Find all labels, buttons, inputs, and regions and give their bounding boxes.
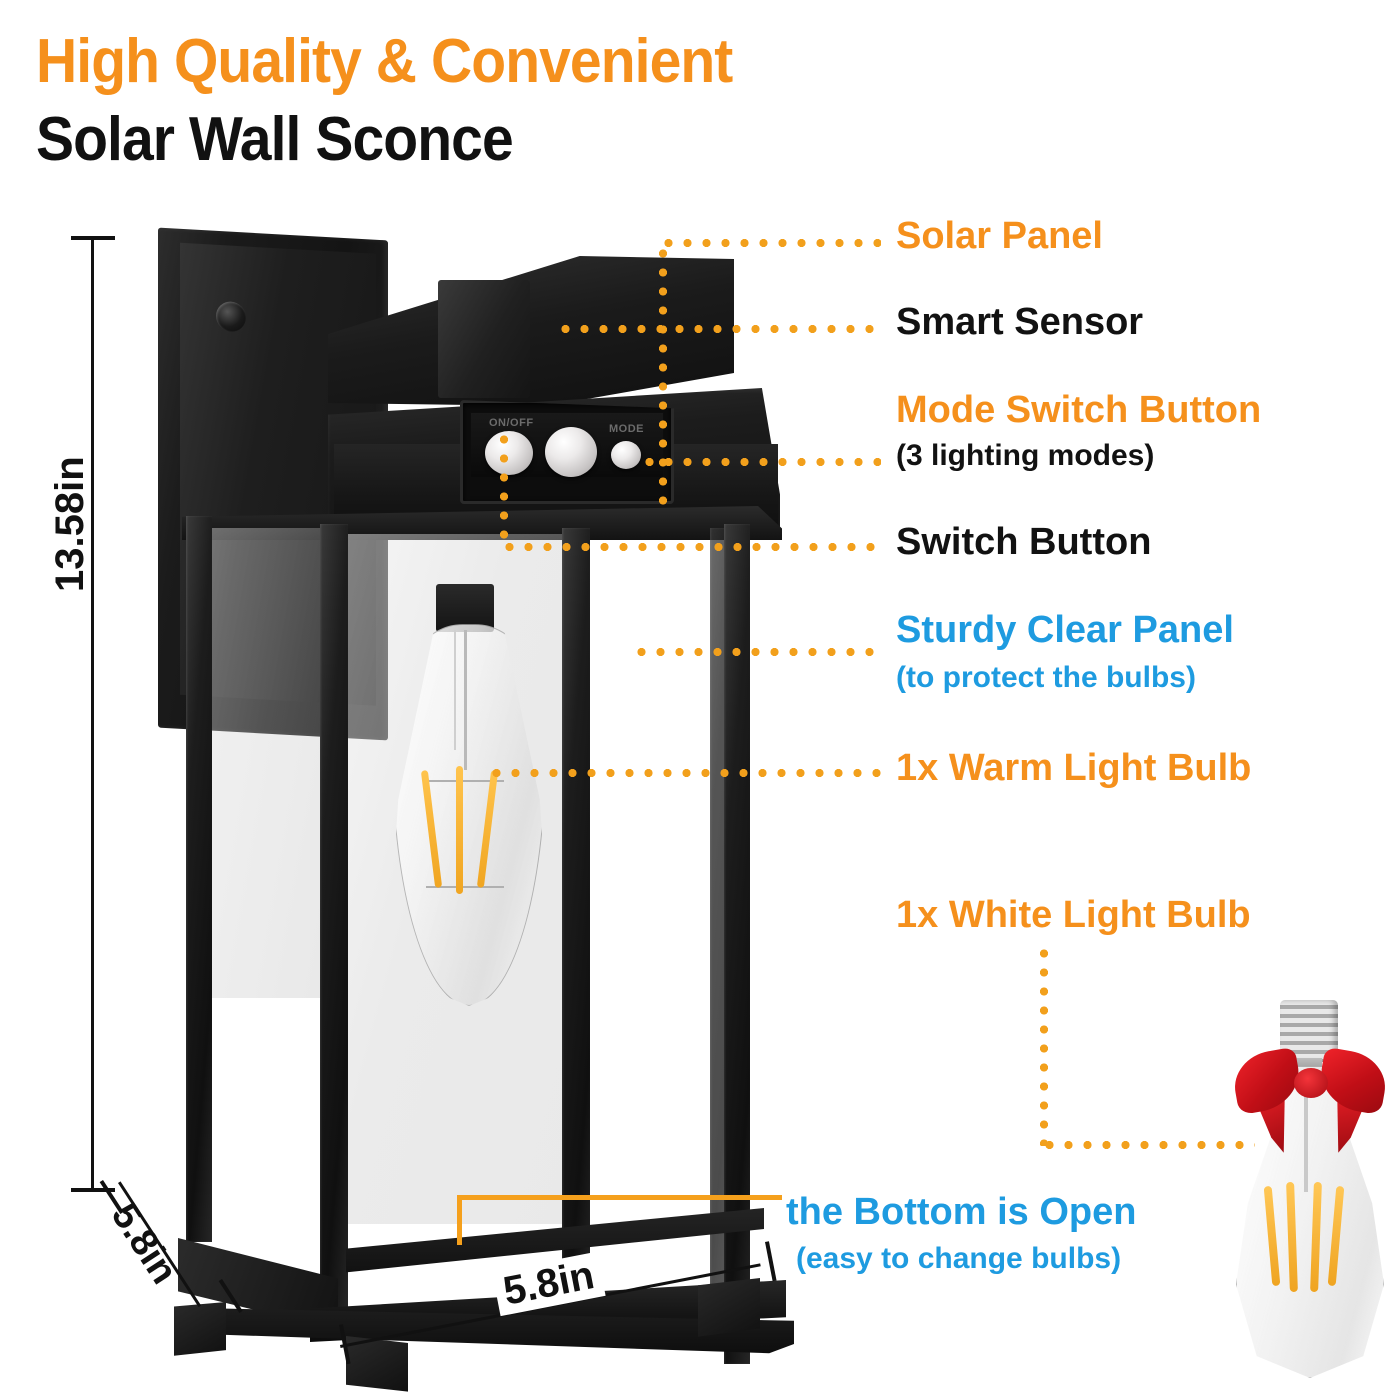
leader-switch-button-riser — [500, 430, 508, 548]
callout-clear-panel-sub: (to protect the bulbs) — [896, 662, 1196, 694]
headline-primary: High Quality & Convenient — [36, 26, 732, 97]
leader-white-bulb-riser — [1040, 944, 1048, 1146]
warm-light-bulb — [382, 584, 552, 1014]
callout-solar-panel: Solar Panel — [896, 216, 1103, 256]
frame-post-front-left — [320, 524, 348, 1324]
switch-button-knob[interactable] — [485, 431, 533, 475]
bulb-glass-envelope — [392, 624, 546, 1006]
white-light-bulb-gift — [1228, 1000, 1388, 1390]
dim-line-height — [91, 238, 94, 1190]
ribbon-knot — [1294, 1068, 1328, 1098]
base-corner-block-left — [174, 1302, 226, 1358]
callout-mode-switch-sub: (3 lighting modes) — [896, 440, 1154, 472]
callout-mode-switch: Mode Switch Button — [896, 390, 1261, 430]
callout-switch-button: Switch Button — [896, 522, 1151, 562]
bulb-filament-2 — [456, 766, 463, 894]
headline-secondary: Solar Wall Sconce — [36, 104, 513, 175]
leader-warm-bulb — [487, 769, 881, 777]
pointer-bottom-open-riser — [457, 1195, 462, 1245]
callout-warm-bulb: 1x Warm Light Bulb — [896, 748, 1251, 788]
clear-panel-side — [190, 528, 340, 998]
power-button-knob[interactable] — [545, 427, 597, 477]
base-corner-block-right — [698, 1278, 760, 1338]
frame-post-back-left — [186, 516, 212, 1242]
leader-smart-sensor — [556, 325, 881, 333]
callout-bottom-open-sub: (easy to change bulbs) — [796, 1243, 1121, 1275]
product-infographic: High Quality & Convenient Solar Wall Sco… — [0, 0, 1400, 1400]
leader-solar-panel-riser — [659, 244, 667, 514]
mode-button-knob[interactable] — [611, 441, 641, 469]
on-off-caption: ON/OFF — [489, 417, 534, 429]
red-ribbon-bow-icon — [1232, 1044, 1390, 1136]
dim-cap-height-top — [71, 236, 115, 240]
dim-label-height: 13.58in — [48, 456, 93, 592]
smart-sensor-housing — [438, 280, 530, 398]
pointer-bottom-open — [457, 1195, 782, 1200]
callout-smart-sensor: Smart Sensor — [896, 302, 1143, 342]
bulb-stem — [464, 630, 467, 770]
callout-white-bulb: 1x White Light Bulb — [896, 895, 1251, 935]
leader-solar-panel — [659, 239, 881, 247]
control-panel[interactable]: ON/OFF MODE — [460, 400, 674, 504]
frame-post-front-right — [562, 528, 590, 1340]
callout-clear-panel: Sturdy Clear Panel — [896, 610, 1234, 650]
leader-white-bulb — [1040, 1141, 1255, 1149]
mode-caption: MODE — [609, 423, 644, 435]
leader-clear-panel — [632, 648, 881, 656]
leader-mode-switch — [640, 458, 881, 466]
callout-bottom-open: the Bottom is Open — [786, 1192, 1136, 1232]
bulb-stem-wire — [454, 630, 456, 750]
leader-switch-button — [500, 543, 881, 551]
